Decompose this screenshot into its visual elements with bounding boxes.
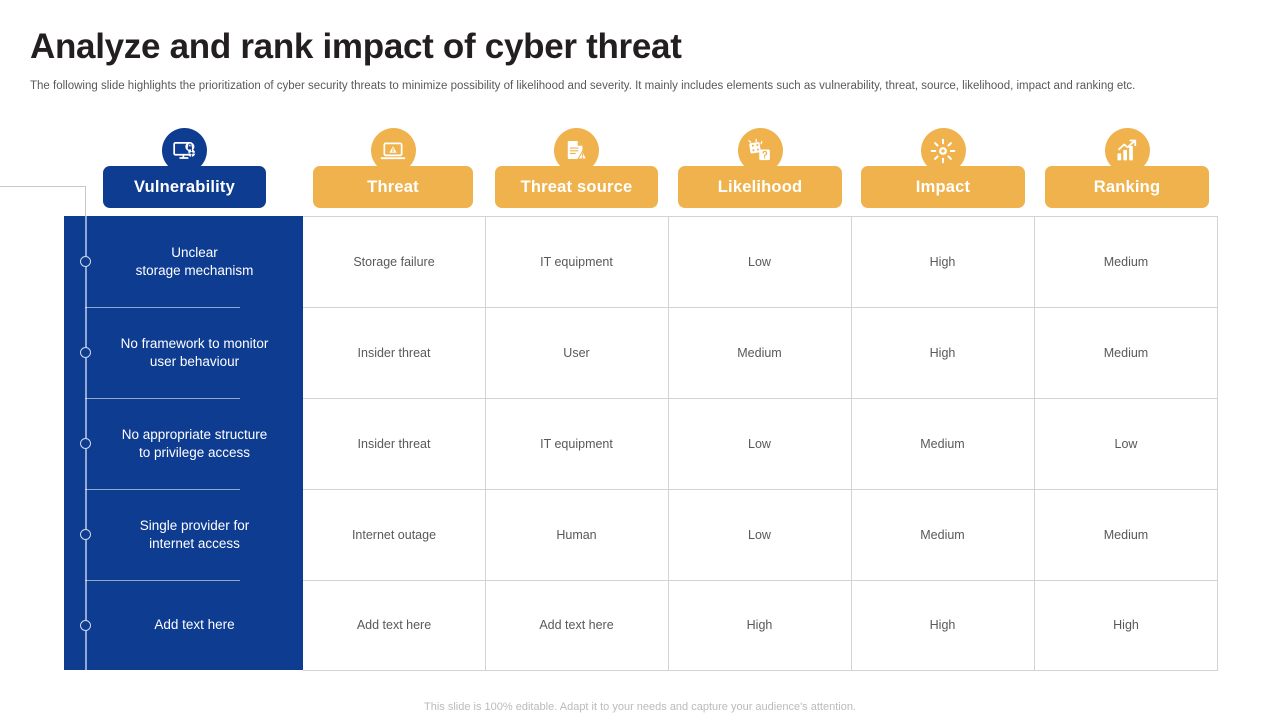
table-cell-threat-source[interactable]: Add text here [485, 580, 668, 670]
column-header-vulnerability[interactable]: Vulnerability [103, 166, 266, 208]
table-cell-threat[interactable]: Internet outage [303, 489, 485, 580]
table-cell-text: Add text here [357, 618, 431, 632]
vulnerability-cell-text: No framework to monitoruser behaviour [121, 335, 269, 371]
table-cell-impact[interactable]: High [851, 580, 1034, 670]
table-cell-text: IT equipment [540, 437, 613, 451]
risk-table: Unclearstorage mechanismNo framework to … [64, 216, 1218, 670]
column-header-impact[interactable]: Impact [861, 166, 1025, 208]
table-cell-likelihood[interactable]: High [668, 580, 851, 670]
slide-canvas: Analyze and rank impact of cyber threat … [0, 0, 1280, 720]
table-cell-threat-source[interactable]: IT equipment [485, 216, 668, 307]
table-cell-text: Medium [1104, 255, 1148, 269]
table-cell-threat-source[interactable]: User [485, 307, 668, 398]
vulnerability-cell[interactable]: Unclearstorage mechanism [86, 216, 303, 307]
column-header-likelihood[interactable]: Likelihood [678, 166, 842, 208]
vulnerability-cell-text: Single provider forinternet access [140, 517, 250, 553]
table-cell-impact[interactable]: High [851, 307, 1034, 398]
page-subtitle: The following slide highlights the prior… [30, 80, 1135, 92]
column-header-label: Likelihood [718, 178, 803, 197]
table-cell-text: Medium [737, 346, 781, 360]
vulnerability-cell[interactable]: No appropriate structureto privilege acc… [86, 398, 303, 489]
column-header-row: VulnerabilityThreatThreat sourceLikeliho… [0, 128, 1280, 218]
table-cell-text: High [930, 346, 956, 360]
table-cell-ranking[interactable]: Medium [1034, 307, 1218, 398]
vulnerability-cell[interactable]: Add text here [86, 580, 303, 670]
table-cell-text: Storage failure [353, 255, 434, 269]
vulnerability-cell[interactable]: Single provider forinternet access [86, 489, 303, 580]
table-cell-text: Medium [1104, 346, 1148, 360]
table-cell-text: Insider threat [358, 437, 431, 451]
table-cell-text: Medium [920, 437, 964, 451]
column-header-label: Impact [916, 178, 970, 197]
column-header-label: Threat source [521, 178, 633, 197]
table-cell-impact[interactable]: Medium [851, 489, 1034, 580]
table-cell-impact[interactable]: Medium [851, 398, 1034, 489]
table-cell-text: High [747, 618, 773, 632]
table-cell-text: Medium [920, 528, 964, 542]
table-cell-text: High [930, 618, 956, 632]
table-cell-threat[interactable]: Insider threat [303, 398, 485, 489]
table-cell-text: Add text here [539, 618, 613, 632]
table-cell-ranking[interactable]: Medium [1034, 216, 1218, 307]
page-title: Analyze and rank impact of cyber threat [30, 27, 682, 67]
table-cell-threat[interactable]: Add text here [303, 580, 485, 670]
table-cell-ranking[interactable]: Medium [1034, 489, 1218, 580]
table-cell-threat-source[interactable]: IT equipment [485, 398, 668, 489]
table-cell-ranking[interactable]: High [1034, 580, 1218, 670]
table-cell-likelihood[interactable]: Medium [668, 307, 851, 398]
grid-line-horizontal [303, 670, 1218, 671]
footer-note: This slide is 100% editable. Adapt it to… [0, 701, 1280, 713]
table-cell-text: Human [556, 528, 596, 542]
table-cell-text: High [1113, 618, 1139, 632]
vulnerability-cell[interactable]: No framework to monitoruser behaviour [86, 307, 303, 398]
table-cell-text: High [930, 255, 956, 269]
table-cell-text: Low [1115, 437, 1138, 451]
column-header-label: Ranking [1094, 178, 1161, 197]
table-cell-likelihood[interactable]: Low [668, 489, 851, 580]
table-cell-likelihood[interactable]: Low [668, 216, 851, 307]
column-header-threat-source[interactable]: Threat source [495, 166, 658, 208]
table-cell-text: User [563, 346, 589, 360]
table-cell-text: Low [748, 437, 771, 451]
data-grid: Storage failureIT equipmentLowHighMedium… [303, 216, 1218, 670]
table-cell-text: Insider threat [358, 346, 431, 360]
table-cell-ranking[interactable]: Low [1034, 398, 1218, 489]
vulnerability-cell-text: Add text here [154, 616, 234, 634]
table-cell-text: Internet outage [352, 528, 436, 542]
column-header-threat[interactable]: Threat [313, 166, 473, 208]
table-cell-threat-source[interactable]: Human [485, 489, 668, 580]
table-cell-likelihood[interactable]: Low [668, 398, 851, 489]
column-header-ranking[interactable]: Ranking [1045, 166, 1209, 208]
table-cell-text: Low [748, 528, 771, 542]
table-cell-threat[interactable]: Storage failure [303, 216, 485, 307]
column-header-label: Threat [367, 178, 419, 197]
vulnerability-cell-text: Unclearstorage mechanism [136, 244, 254, 280]
table-cell-text: IT equipment [540, 255, 613, 269]
table-cell-text: Low [748, 255, 771, 269]
vulnerability-cell-text: No appropriate structureto privilege acc… [122, 426, 268, 462]
table-cell-text: Medium [1104, 528, 1148, 542]
table-cell-threat[interactable]: Insider threat [303, 307, 485, 398]
table-cell-impact[interactable]: High [851, 216, 1034, 307]
column-header-label: Vulnerability [134, 178, 235, 197]
